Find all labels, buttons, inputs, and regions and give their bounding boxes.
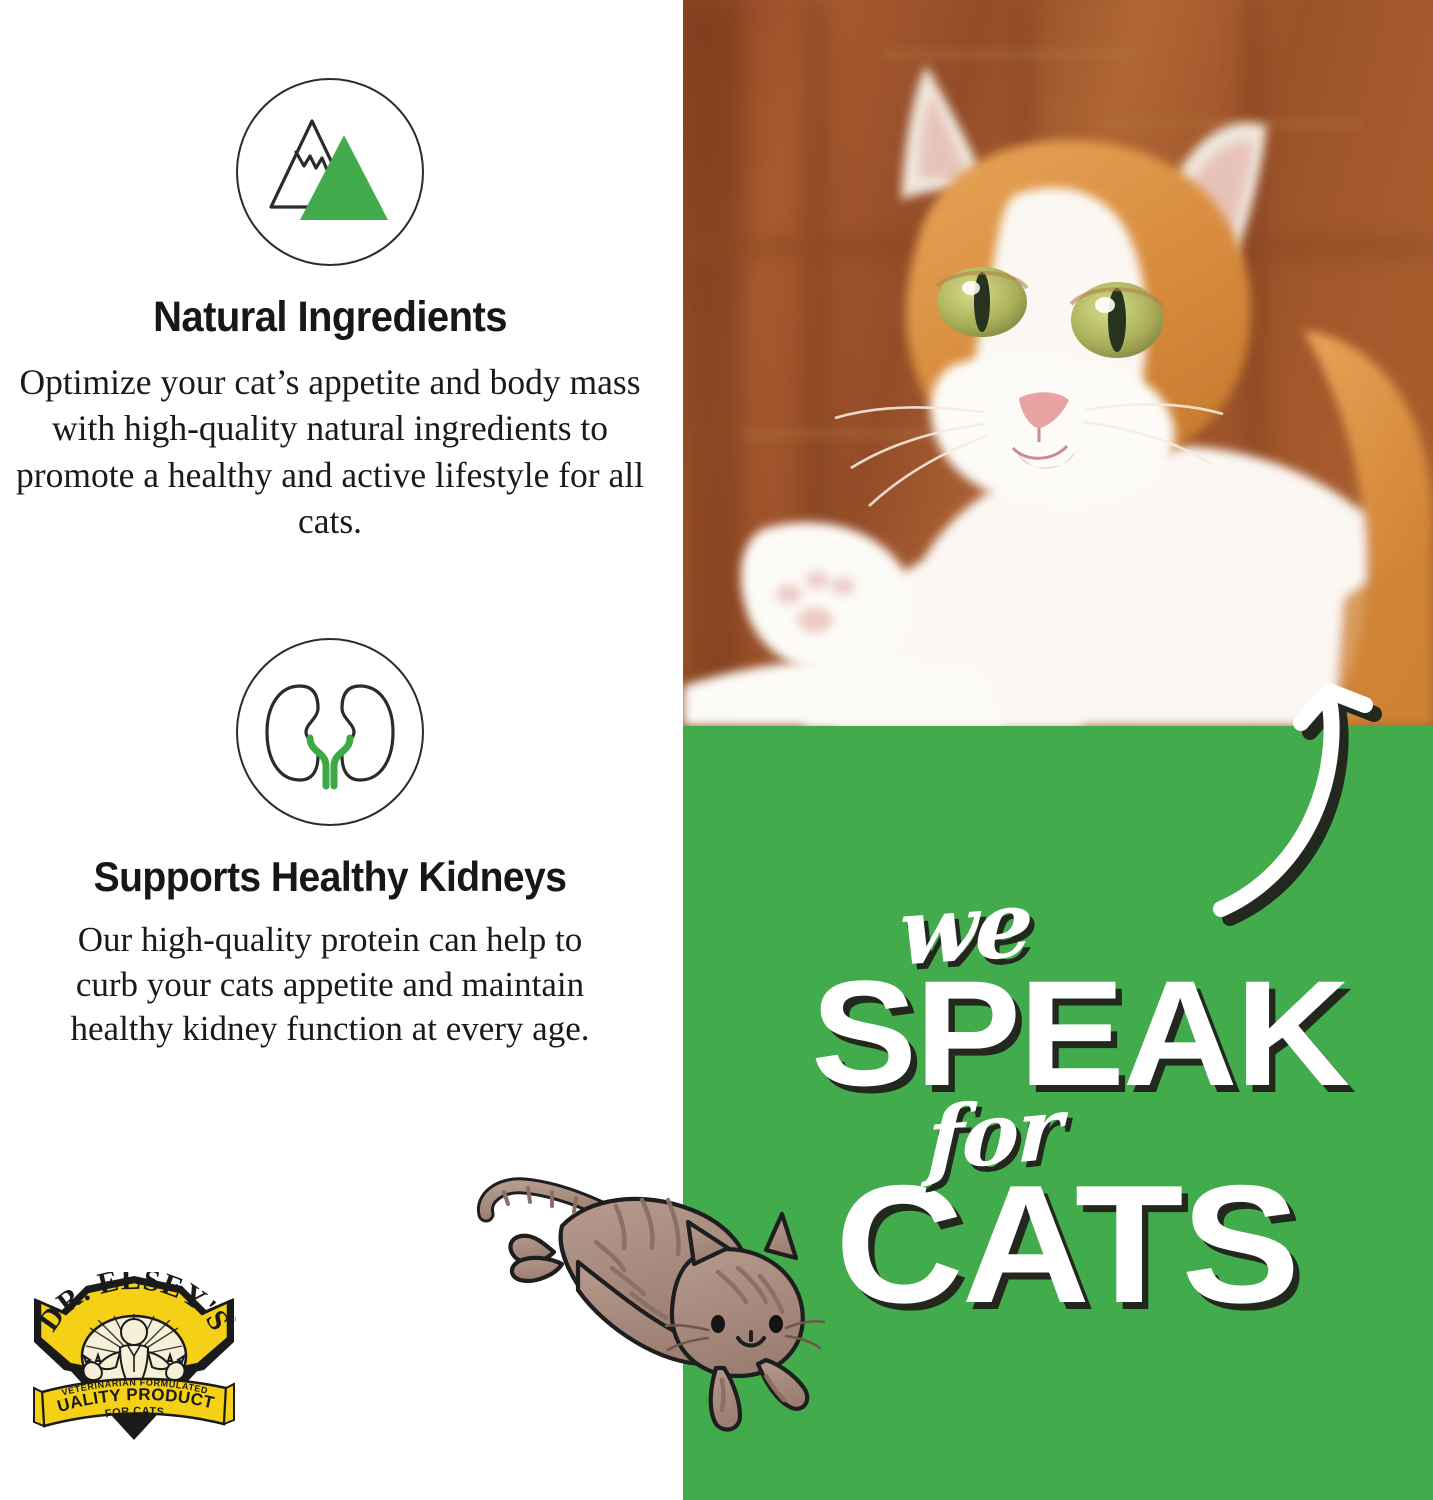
promo-page: Natural Ingredients Optimize your cat’s … [0, 0, 1433, 1500]
headline-word-for: for [925, 1078, 1062, 1191]
curved-up-arrow-icon [1178, 666, 1408, 936]
headline-word-cats: CATS [835, 1160, 1298, 1328]
headline-word-speak: SPEAK [811, 958, 1348, 1108]
feature-supports-healthy-kidneys: Supports Healthy Kidneys Our high-qualit… [0, 638, 660, 1052]
feature-natural-ingredients: Natural Ingredients Optimize your cat’s … [0, 78, 660, 544]
feature-body: Our high-quality protein can help to cur… [45, 918, 615, 1051]
feature-title: Natural Ingredients [23, 294, 637, 341]
dr-elseys-logo: DR. ELSEY'S ® VETERINARIAN FORMULATED QU… [28, 1272, 240, 1440]
feature-body: Optimize your cat’s appetite and body ma… [10, 359, 650, 544]
kidneys-icon [236, 638, 424, 826]
logo-trademark-mark: ™ [194, 1417, 201, 1424]
feature-title: Supports Healthy Kidneys [23, 854, 637, 900]
ginger-white-cat-photo [683, 0, 1433, 726]
mountain-icon [236, 78, 424, 266]
logo-registered-mark: ® [230, 1315, 236, 1324]
leaping-cat-illustration [466, 1172, 866, 1434]
